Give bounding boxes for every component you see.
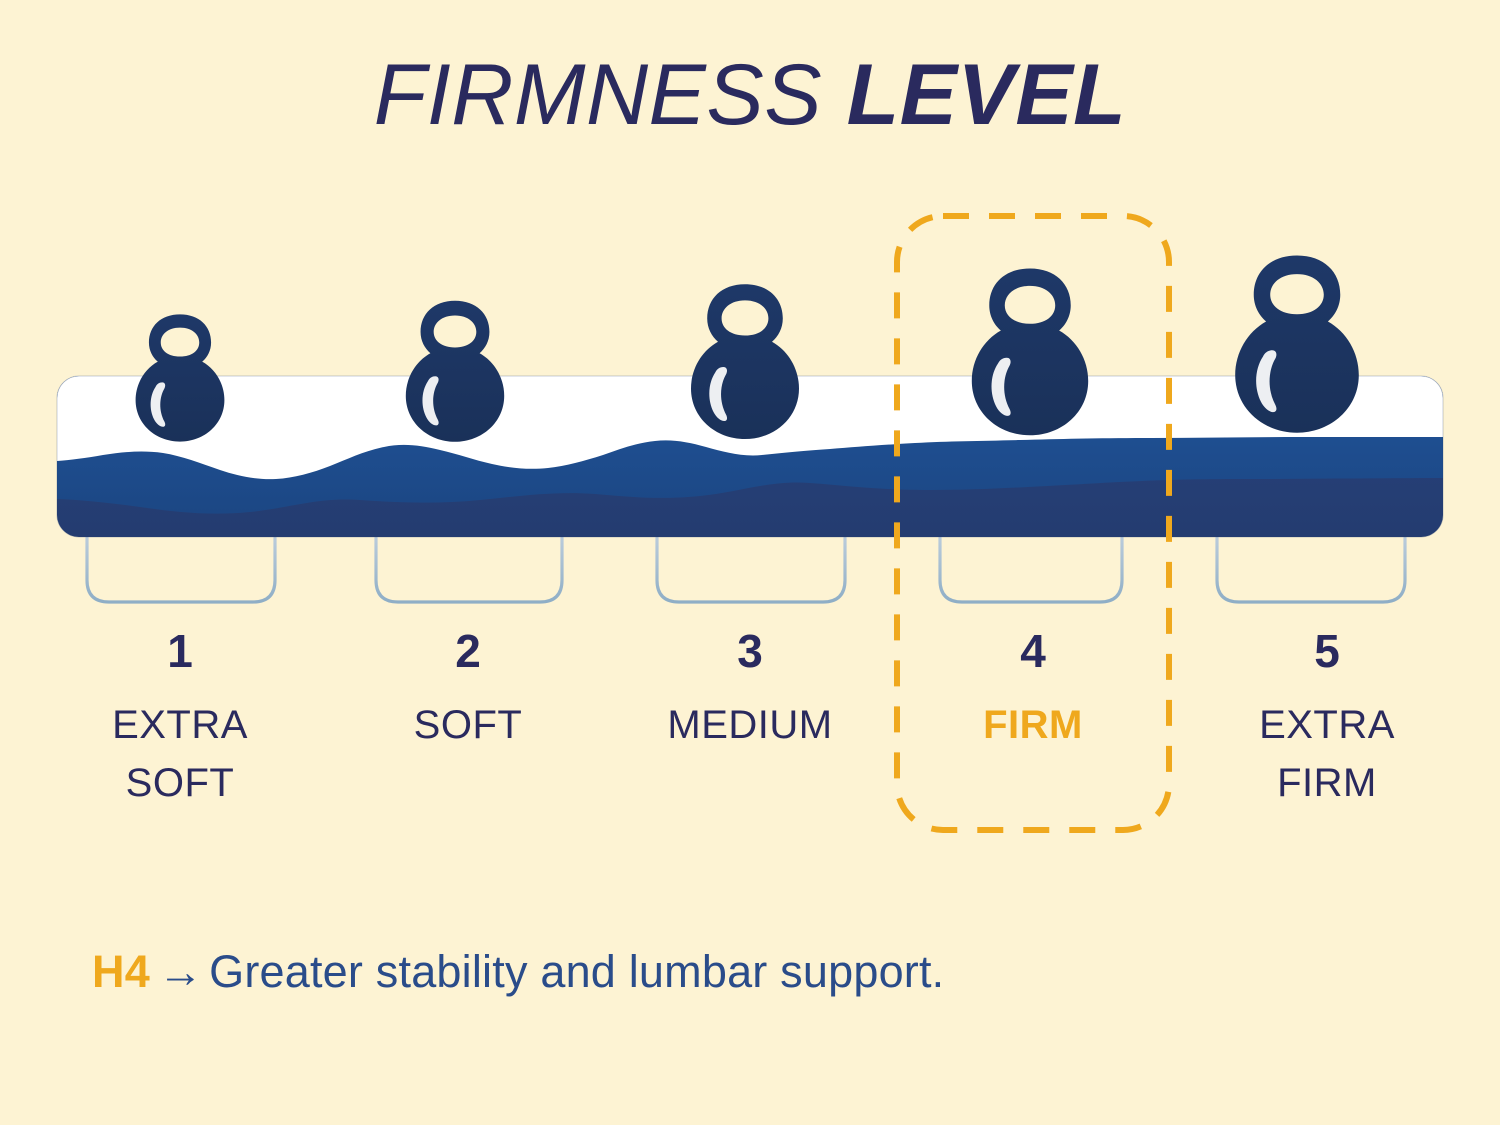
support-bracket-4: [940, 538, 1122, 602]
scale-number-5: 5: [1212, 628, 1442, 674]
footnote-arrow-icon: →: [150, 946, 209, 997]
scale-label-4: FIRM: [918, 696, 1148, 754]
scale-item-4[interactable]: 4 FIRM: [918, 628, 1148, 754]
scale-number-2: 2: [353, 628, 583, 674]
support-bracket-2: [376, 538, 562, 602]
scale-number-3: 3: [635, 628, 865, 674]
scale-label-3: MEDIUM: [635, 696, 865, 754]
kettlebell-icon-5: [1235, 256, 1359, 433]
scale-label-1: EXTRA SOFT: [65, 696, 295, 812]
kettlebell-icon-1: [136, 314, 225, 441]
support-bracket-3: [657, 538, 845, 602]
footnote: H4→Greater stability and lumbar support.: [92, 945, 944, 999]
support-bracket-1: [87, 538, 275, 602]
support-bracket-group: [87, 538, 1405, 602]
scale-number-1: 1: [65, 628, 295, 674]
kettlebell-icon-4: [972, 268, 1088, 435]
scale-item-2[interactable]: 2 SOFT: [353, 628, 583, 754]
footnote-code: H4: [92, 946, 150, 997]
support-bracket-5: [1217, 538, 1405, 602]
scale-item-5[interactable]: 5 EXTRA FIRM: [1212, 628, 1442, 812]
scale-number-4: 4: [918, 628, 1148, 674]
kettlebell-icon-3: [691, 284, 799, 439]
firmness-scale: 1 EXTRA SOFT 2 SOFT 3 MEDIUM 4 FIRM 5 EX…: [0, 628, 1500, 843]
scale-item-3[interactable]: 3 MEDIUM: [635, 628, 865, 754]
kettlebell-icon-2: [406, 301, 504, 442]
scale-label-2: SOFT: [353, 696, 583, 754]
scale-label-5: EXTRA FIRM: [1212, 696, 1442, 812]
footnote-text: Greater stability and lumbar support.: [209, 946, 944, 997]
scale-item-1[interactable]: 1 EXTRA SOFT: [65, 628, 295, 812]
